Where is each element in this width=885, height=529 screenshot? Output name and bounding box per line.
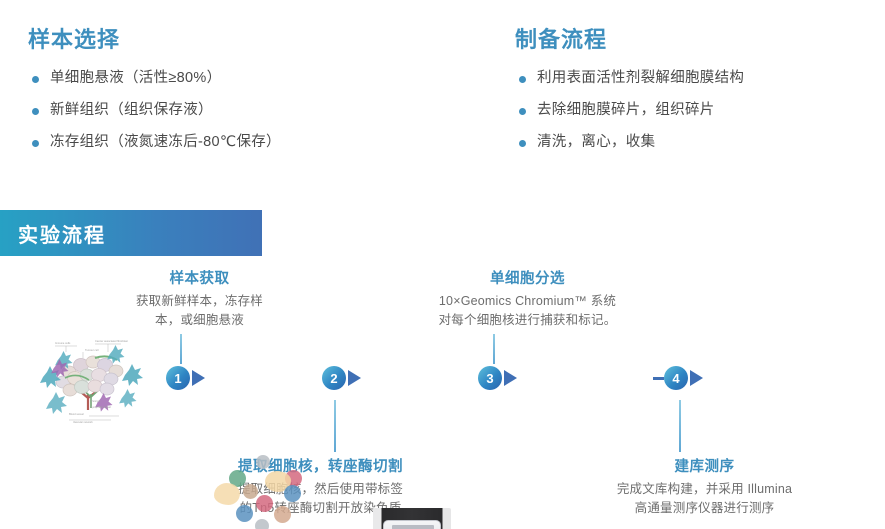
svg-text:Cancer associated fibroblast: Cancer associated fibroblast	[95, 339, 128, 343]
tissue-illustration: Immune cells Cancer associated fibroblas…	[25, 332, 155, 427]
sample-selection-list: 单细胞悬液（活性≥80%） 新鲜组织（组织保存液） 冻存组织（液氮速冻后-80℃…	[28, 68, 468, 153]
list-item: 利用表面活性剂裂解细胞膜结构	[515, 68, 875, 90]
list-item: 清洗，离心，收集	[515, 132, 875, 154]
chromium-controller-photo	[373, 508, 451, 529]
step-2-number: 2	[322, 366, 346, 390]
step-2-arrow-icon	[348, 370, 361, 386]
step-1-title: 样本获取	[92, 270, 307, 289]
preparation-flow-title: 制备流程	[515, 28, 875, 52]
step-4-label: 建库测序 完成文库构建，并采用 Illumina 高通量测序仪器进行测序	[562, 458, 847, 519]
list-item: 单细胞悬液（活性≥80%）	[28, 68, 468, 90]
step-1-marker: 1	[166, 366, 205, 390]
step-4-arrow-icon	[690, 370, 703, 386]
step-1-body-line-2: 本，或细胞悬液	[92, 311, 307, 330]
step-3-label: 单细胞分选 10×Geomics Chromium™ 系统 对每个细胞核进行捕获…	[405, 270, 650, 331]
cell-dot	[255, 519, 269, 529]
bullet-dot-icon	[32, 108, 39, 115]
bullet-dot-icon	[32, 140, 39, 147]
step-4-connector-line	[679, 400, 681, 452]
bullet-dot-icon	[32, 76, 39, 83]
step-2-connector-line	[334, 400, 336, 452]
step-3-body-line-1: 10×Geomics Chromium™ 系统	[405, 292, 650, 311]
list-item: 去除细胞膜碎片，组织碎片	[515, 100, 875, 122]
step-4-inbound-connector	[653, 377, 664, 380]
preparation-flow-block: 制备流程 利用表面活性剂裂解细胞膜结构 去除细胞膜碎片，组织碎片 清洗，离心，收…	[515, 28, 875, 163]
cell-dot	[284, 485, 301, 502]
step-4-number: 4	[664, 366, 688, 390]
svg-text:Tumour cell: Tumour cell	[85, 348, 99, 352]
bullet-dot-icon	[519, 76, 526, 83]
list-item-label: 去除细胞膜碎片，组织碎片	[537, 100, 715, 122]
step-3-title: 单细胞分选	[405, 270, 650, 289]
list-item-label: 冻存组织（液氮速冻后-80℃保存）	[50, 132, 281, 154]
svg-text:Blood vessel: Blood vessel	[69, 412, 84, 416]
bullet-dot-icon	[519, 108, 526, 115]
cell-dot	[274, 506, 291, 523]
step-3-number: 3	[478, 366, 502, 390]
step-1-number: 1	[166, 366, 190, 390]
list-item: 新鲜组织（组织保存液）	[28, 100, 468, 122]
bullet-dot-icon	[519, 140, 526, 147]
chromium-chip	[383, 520, 441, 529]
cell-dot	[256, 495, 273, 512]
list-item-label: 清洗，离心，收集	[537, 132, 655, 154]
svg-text:Lymphatic vessel: Lymphatic vessel	[91, 405, 111, 409]
cell-dot	[214, 483, 240, 505]
list-item-label: 利用表面活性剂裂解细胞膜结构	[537, 68, 744, 90]
cell-dot	[243, 484, 258, 499]
step-3-marker: 3	[478, 366, 517, 390]
step-3-body-line-2: 对每个细胞核进行捕获和标记。	[405, 311, 650, 330]
step-1-connector-line	[180, 334, 182, 364]
experiment-flow-diagram: 样本获取 获取新鲜样本，冻存样 本，或细胞悬液 单细胞分选 10×Geomics…	[0, 262, 885, 529]
step-4-body-line-1: 完成文库构建，并采用 Illumina	[562, 480, 847, 499]
list-item-label: 单细胞悬液（活性≥80%）	[50, 68, 221, 90]
cell-dot	[236, 505, 253, 522]
sample-selection-block: 样本选择 单细胞悬液（活性≥80%） 新鲜组织（组织保存液） 冻存组织（液氮速冻…	[28, 28, 468, 163]
step-1-arrow-icon	[192, 370, 205, 386]
step-4-marker: 4	[653, 366, 703, 390]
step-1-body-line-1: 获取新鲜样本，冻存样	[92, 292, 307, 311]
tissue-illustration-svg: Immune cells Cancer associated fibroblas…	[25, 332, 155, 427]
step-4-body-line-2: 高通量测序仪器进行测序	[562, 499, 847, 518]
preparation-flow-list: 利用表面活性剂裂解细胞膜结构 去除细胞膜碎片，组织碎片 清洗，离心，收集	[515, 68, 875, 153]
svg-text:Vascular network: Vascular network	[73, 420, 93, 424]
svg-text:Pericyte: Pericyte	[91, 399, 101, 403]
cell-dot	[256, 455, 270, 469]
list-item-label: 新鲜组织（组织保存液）	[50, 100, 213, 122]
step-1-label: 样本获取 获取新鲜样本，冻存样 本，或细胞悬液	[92, 270, 307, 331]
experiment-flow-banner: 实验流程	[0, 210, 262, 256]
step-3-arrow-icon	[504, 370, 517, 386]
poster-root: 样本选择 单细胞悬液（活性≥80%） 新鲜组织（组织保存液） 冻存组织（液氮速冻…	[0, 0, 885, 529]
sample-selection-title: 样本选择	[28, 28, 468, 52]
step-2-marker: 2	[322, 366, 361, 390]
svg-text:Immune cells: Immune cells	[55, 341, 71, 345]
list-item: 冻存组织（液氮速冻后-80℃保存）	[28, 132, 468, 154]
step-4-title: 建库测序	[562, 458, 847, 477]
step-3-connector-line	[493, 334, 495, 364]
experiment-flow-banner-label: 实验流程	[0, 219, 106, 248]
cell-suspension-illustration	[210, 453, 310, 529]
